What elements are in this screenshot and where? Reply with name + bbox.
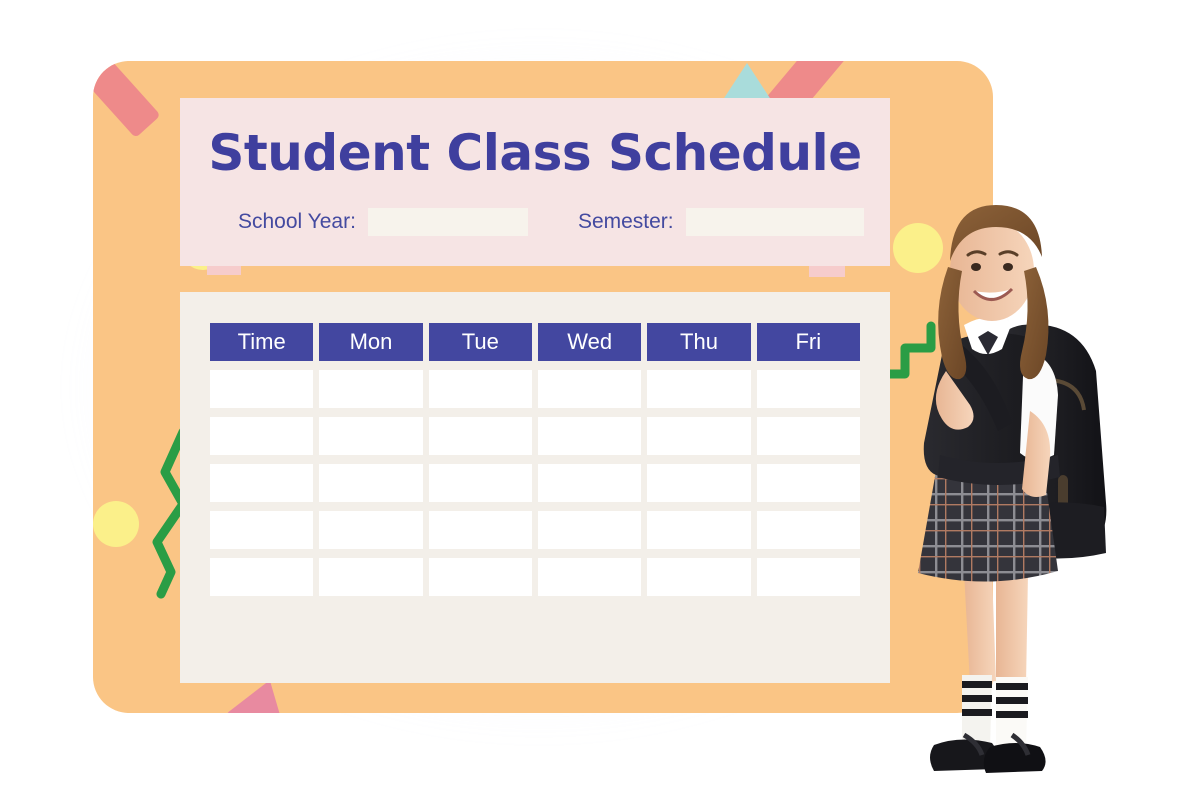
table-row bbox=[210, 417, 860, 455]
table-cell[interactable] bbox=[429, 464, 532, 502]
column-header-wed[interactable]: Wed bbox=[538, 323, 641, 361]
table-row bbox=[210, 464, 860, 502]
table-cell[interactable] bbox=[210, 464, 313, 502]
eye-left bbox=[971, 263, 981, 271]
table-cell[interactable] bbox=[538, 558, 641, 596]
column-header-fri[interactable]: Fri bbox=[757, 323, 860, 361]
table-cell[interactable] bbox=[319, 464, 422, 502]
pink-bar-top-left-icon bbox=[93, 61, 161, 138]
table-cell[interactable] bbox=[647, 558, 750, 596]
table-cell[interactable] bbox=[210, 511, 313, 549]
table-cell[interactable] bbox=[757, 511, 860, 549]
table-row bbox=[210, 511, 860, 549]
table-cell[interactable] bbox=[757, 558, 860, 596]
table-cell[interactable] bbox=[757, 464, 860, 502]
table-cell[interactable] bbox=[319, 417, 422, 455]
table-body bbox=[210, 370, 860, 596]
column-header-mon[interactable]: Mon bbox=[319, 323, 422, 361]
page-canvas: Student Class Schedule School Year: Seme… bbox=[0, 0, 1200, 800]
table-cell[interactable] bbox=[210, 417, 313, 455]
schedule-card: Student Class Schedule School Year: Seme… bbox=[93, 61, 993, 713]
table-cell[interactable] bbox=[429, 417, 532, 455]
table-cell[interactable] bbox=[319, 370, 422, 408]
table-cell[interactable] bbox=[210, 558, 313, 596]
table-cell[interactable] bbox=[757, 370, 860, 408]
column-header-thu[interactable]: Thu bbox=[647, 323, 750, 361]
eye-right bbox=[1003, 263, 1013, 271]
form-row: School Year: Semester: bbox=[180, 208, 890, 236]
table-cell[interactable] bbox=[757, 417, 860, 455]
semester-label: Semester: bbox=[578, 210, 674, 234]
table-cell[interactable] bbox=[538, 511, 641, 549]
table-cell[interactable] bbox=[319, 558, 422, 596]
table-cell[interactable] bbox=[429, 511, 532, 549]
school-year-input[interactable] bbox=[368, 208, 528, 236]
column-header-time[interactable]: Time bbox=[210, 323, 313, 361]
leg-front bbox=[996, 566, 1028, 687]
header-panel: Student Class Schedule School Year: Seme… bbox=[180, 98, 890, 266]
school-year-label: School Year: bbox=[238, 210, 356, 234]
semester-input[interactable] bbox=[686, 208, 864, 236]
table-row bbox=[210, 558, 860, 596]
table-cell[interactable] bbox=[647, 370, 750, 408]
table-cell[interactable] bbox=[647, 464, 750, 502]
table-cell[interactable] bbox=[429, 558, 532, 596]
schedule-table: Time Mon Tue Wed Thu Fri bbox=[204, 314, 866, 605]
page-title: Student Class Schedule bbox=[180, 124, 890, 182]
leg-back bbox=[964, 568, 996, 685]
table-cell[interactable] bbox=[319, 511, 422, 549]
table-row bbox=[210, 370, 860, 408]
table-cell[interactable] bbox=[429, 370, 532, 408]
table-cell[interactable] bbox=[647, 511, 750, 549]
table-cell[interactable] bbox=[538, 370, 641, 408]
schoolgirl-photo bbox=[900, 175, 1135, 785]
schedule-table-panel: Time Mon Tue Wed Thu Fri bbox=[180, 292, 890, 683]
table-cell[interactable] bbox=[647, 417, 750, 455]
table-cell[interactable] bbox=[538, 417, 641, 455]
table-header-row: Time Mon Tue Wed Thu Fri bbox=[210, 323, 860, 361]
column-header-tue[interactable]: Tue bbox=[429, 323, 532, 361]
table-cell[interactable] bbox=[538, 464, 641, 502]
table-cell[interactable] bbox=[210, 370, 313, 408]
